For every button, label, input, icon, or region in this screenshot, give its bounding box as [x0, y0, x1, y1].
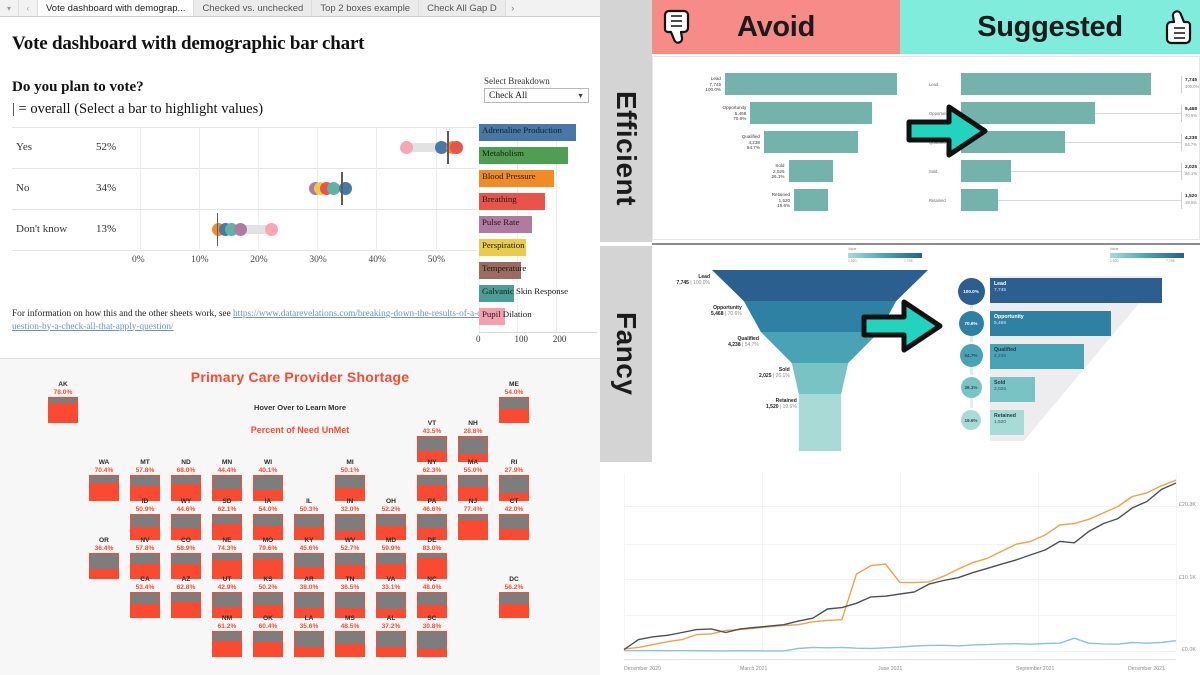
label-tick: [1181, 105, 1182, 122]
row-value: 52%: [96, 141, 116, 153]
state-abbr: AZ: [171, 576, 201, 584]
state-tile[interactable]: MT 57.8%: [130, 459, 160, 501]
state-abbr: DE: [417, 537, 447, 545]
state-value: 40.1%: [253, 467, 283, 475]
funnel-bar-label: Lead7,745100.0%: [673, 76, 721, 93]
state-abbr: WA: [89, 459, 119, 467]
stage-percent-circle[interactable]: 26.1%: [961, 377, 982, 398]
fancy-suggested-chart[interactable]: 100.0%Lead7,74570.6%Opportunity5,46854.7…: [938, 246, 1200, 462]
state-bar[interactable]: [335, 631, 365, 657]
state-value: 48.0%: [417, 584, 447, 592]
x-axis-tick: 20%: [250, 255, 267, 265]
grid-line: [376, 127, 377, 251]
state-tile[interactable]: IL 50.3%: [294, 498, 324, 540]
state-value: 74.3%: [212, 545, 242, 553]
thumbs-up-icon: [1158, 6, 1194, 46]
state-abbr: WY: [171, 498, 201, 506]
state-bar[interactable]: [89, 553, 119, 579]
breakdown-label: Select Breakdown: [484, 76, 550, 86]
color-legend-min: 1,520: [1110, 259, 1119, 263]
state-abbr: MN: [212, 459, 242, 467]
funnel-bar[interactable]: [764, 131, 858, 153]
state-value: 45.6%: [294, 545, 324, 553]
state-value: 37.2%: [376, 623, 406, 631]
state-abbr: SC: [417, 615, 447, 623]
funnel-bar[interactable]: [789, 160, 834, 182]
state-tile[interactable]: CA 53.4%: [130, 576, 160, 618]
caret-down-icon[interactable]: ▾: [0, 0, 19, 16]
state-abbr: OH: [376, 498, 406, 506]
state-abbr: VT: [417, 420, 447, 428]
state-tile[interactable]: ND 68.0%: [171, 459, 201, 501]
state-abbr: OK: [253, 615, 283, 623]
state-tile[interactable]: LA 35.6%: [294, 615, 324, 657]
state-tile[interactable]: WY 44.6%: [171, 498, 201, 540]
state-tile[interactable]: WV 52.7%: [335, 537, 365, 579]
state-tile[interactable]: IA 54.0%: [253, 498, 283, 540]
state-tile[interactable]: AR 38.0%: [294, 576, 324, 618]
state-tile[interactable]: OR 36.4%: [89, 537, 119, 579]
x-axis-tick: 10%: [191, 255, 208, 265]
color-legend-max: 7,745: [1166, 259, 1175, 263]
chevron-left-icon[interactable]: ‹: [19, 0, 38, 16]
map-metric-label: Percent of Need UnMet: [0, 425, 600, 435]
color-legend-title: Value: [1110, 247, 1118, 251]
state-tile[interactable]: VT 43.5%: [417, 420, 447, 462]
question-title: Do you plan to vote?: [12, 79, 144, 96]
state-abbr: NY: [417, 459, 447, 467]
funnel-segment-label: Sold2,025 | 26.1%: [736, 367, 790, 379]
state-abbr: WI: [253, 459, 283, 467]
right-arrow-icon: [858, 295, 946, 357]
state-value: 57.8%: [130, 467, 160, 475]
tab-label: Vote dashboard with demograp...: [46, 3, 185, 14]
grid-line: [12, 209, 477, 210]
vote-dot-plot[interactable]: 0%10%20%30%40%50%Yes52%No34%Don't know13…: [12, 127, 477, 277]
cumulative-line-chart[interactable]: £0.0K£10.1K£20.3KDecember 2020March 2021…: [600, 465, 1200, 675]
stage-name: Opportunity: [994, 314, 1024, 320]
leader-line: [1011, 171, 1181, 172]
suggested-label: Suggested: [977, 11, 1123, 44]
state-bar[interactable]: [499, 592, 529, 618]
stage-value: 2,025: [994, 387, 1006, 393]
state-tile[interactable]: OK 60.4%: [253, 615, 283, 657]
state-value: 62.3%: [417, 467, 447, 475]
state-value: 38.0%: [294, 584, 324, 592]
state-value: 68.0%: [171, 467, 201, 475]
state-bar-fill: [500, 409, 528, 422]
state-tile[interactable]: NY 62.3%: [417, 459, 447, 501]
state-abbr: MO: [253, 537, 283, 545]
funnel-bar-value: 4,238: [1185, 136, 1197, 142]
tab-top-2-boxes[interactable]: Top 2 boxes example: [312, 0, 419, 16]
state-tile[interactable]: SC 30.8%: [417, 615, 447, 657]
funnel-bar-category: Sold: [929, 169, 937, 174]
state-abbr: DC: [499, 576, 529, 584]
data-point-dot[interactable]: [400, 141, 413, 154]
state-tile[interactable]: WA 70.4%: [89, 459, 119, 501]
stage-percent-circle[interactable]: 100.0%: [958, 278, 985, 305]
state-value: 78.0%: [48, 389, 78, 397]
state-tile[interactable]: KY 45.6%: [294, 537, 324, 579]
state-abbr: AR: [294, 576, 324, 584]
funnel-bar-label: Retained1,52019.6%: [742, 192, 790, 209]
state-abbr: NC: [417, 576, 447, 584]
row-label[interactable]: Yes: [16, 141, 32, 153]
label-tick: [1181, 163, 1182, 180]
state-value: 79.6%: [253, 545, 283, 553]
breakdown-legend-bar-chart[interactable]: 0100200 Adrenaline Production Metabolism…: [479, 124, 597, 354]
state-tile[interactable]: AK 78.0%: [48, 381, 78, 423]
leader-line: [1065, 142, 1181, 143]
state-value: 50.2%: [253, 584, 283, 592]
funnel-bar-percent: 26.1%: [1185, 171, 1197, 176]
legend-item-label: Blood Pressure: [482, 171, 536, 181]
state-tile[interactable]: IN 32.0%: [335, 498, 365, 540]
state-tile[interactable]: SD 62.1%: [212, 498, 242, 540]
grid-line: [199, 127, 200, 251]
funnel-bar-percent: 100.0%: [1185, 84, 1199, 89]
state-tile[interactable]: OH 52.2%: [376, 498, 406, 540]
state-value: 61.2%: [212, 623, 242, 631]
thumbs-down-icon: [662, 8, 698, 46]
tab-label: Checked vs. unchecked: [202, 3, 303, 14]
data-point-dot[interactable]: [234, 223, 247, 236]
state-tile[interactable]: AL 37.2%: [376, 615, 406, 657]
funnel-segment-label: Qualified4,238 | 54.7%: [705, 336, 759, 348]
state-tile[interactable]: MN 44.4%: [212, 459, 242, 501]
state-value: 33.1%: [376, 584, 406, 592]
state-value: 36.5%: [335, 584, 365, 592]
color-legend-gradient: [1110, 253, 1184, 258]
stage-percent-circle[interactable]: 19.6%: [961, 410, 981, 430]
state-value: 55.0%: [458, 467, 488, 475]
state-abbr: AL: [376, 615, 406, 623]
funnel-bar-value: 1,520: [1185, 194, 1197, 200]
funnel-bar-category: Retained: [929, 198, 946, 203]
state-tile[interactable]: VA 33.1%: [376, 576, 406, 618]
state-tile[interactable]: CO 58.9%: [171, 537, 201, 579]
funnel-segment-label: Lead7,745 | 100.0%: [656, 274, 710, 286]
primary-care-shortage-panel: Primary Care Provider Shortage Hover Ove…: [0, 358, 600, 675]
row-divider: [652, 243, 1200, 245]
state-abbr: AK: [48, 381, 78, 389]
funnel-bar-percent: 54.7%: [1185, 142, 1197, 147]
state-bar[interactable]: [171, 592, 201, 618]
stage-percent-circle[interactable]: 54.7%: [960, 344, 983, 367]
x-axis-tick: 40%: [368, 255, 385, 265]
state-abbr: NM: [212, 615, 242, 623]
state-value: 57.8%: [130, 545, 160, 553]
row-value: 34%: [96, 182, 116, 194]
funnel-segment-label: Retained1,520 | 19.6%: [743, 398, 797, 410]
state-value: 62.1%: [212, 506, 242, 514]
state-bar[interactable]: [89, 475, 119, 501]
overall-reference-line: [447, 131, 449, 164]
state-bar-fill: [418, 649, 446, 656]
state-tile[interactable]: ID 50.9%: [130, 498, 160, 540]
tab-label: Top 2 boxes example: [320, 3, 410, 14]
grid-line: [12, 168, 477, 169]
stage-name: Lead: [994, 281, 1006, 287]
stage-value: 1,520: [994, 420, 1006, 426]
state-bar-fill: [418, 558, 446, 578]
state-abbr: NE: [212, 537, 242, 545]
chevron-right-icon[interactable]: ›: [506, 0, 520, 16]
state-value: 36.4%: [89, 545, 119, 553]
row-label-efficient: Efficient: [600, 54, 652, 242]
x-axis-tick: 30%: [309, 255, 326, 265]
leader-line: [1095, 113, 1181, 114]
legend-item-label: Breathing: [482, 194, 517, 204]
state-abbr: KS: [253, 576, 283, 584]
state-abbr: IA: [253, 498, 283, 506]
state-value: 52.7%: [335, 545, 365, 553]
state-value: 44.4%: [212, 467, 242, 475]
state-tile[interactable]: CT 42.0%: [499, 498, 529, 540]
state-value: 27.9%: [499, 467, 529, 475]
data-point-dot[interactable]: [265, 223, 278, 236]
state-abbr: MD: [376, 537, 406, 545]
state-bar[interactable]: [212, 631, 242, 657]
stage-name: Qualified: [994, 347, 1016, 353]
right-arrow-icon: [903, 100, 991, 162]
state-abbr: MA: [458, 459, 488, 467]
state-tile[interactable]: ME 54.0%: [499, 381, 529, 423]
state-value: 70.4%: [89, 467, 119, 475]
stage-percent-circle[interactable]: 70.6%: [959, 311, 984, 336]
legend-item-label: Pulse Rate: [482, 217, 519, 227]
tableau-dashboard-pane: ▾ ‹ Vote dashboard with demograp... Chec…: [0, 0, 600, 675]
state-value: 44.6%: [171, 506, 201, 514]
legend-item-label: Pupil Dilation: [482, 309, 532, 319]
state-value: 60.4%: [253, 623, 283, 631]
row-label[interactable]: No: [16, 182, 29, 194]
state-bar-fill: [500, 604, 528, 617]
state-bar[interactable]: [294, 631, 324, 657]
x-axis-tick: 100: [514, 334, 528, 344]
state-value: 50.1%: [335, 467, 365, 475]
state-tile[interactable]: AZ 62.8%: [171, 576, 201, 618]
state-bar[interactable]: [458, 514, 488, 540]
state-tile[interactable]: NM 61.2%: [212, 615, 242, 657]
tab-checked-vs-unchecked[interactable]: Checked vs. unchecked: [194, 0, 312, 16]
state-bar-fill: [213, 641, 241, 656]
state-abbr: VA: [376, 576, 406, 584]
state-tile[interactable]: MS 48.5%: [335, 615, 365, 657]
funnel-bar-label: Qualified4,23854.7%: [712, 134, 760, 151]
state-abbr: ME: [499, 381, 529, 389]
state-bar-fill: [254, 642, 282, 656]
state-value: 56.2%: [499, 584, 529, 592]
state-tile[interactable]: NE 74.3%: [212, 537, 242, 579]
avoid-label: Avoid: [737, 11, 815, 44]
stage-value: 4,238: [994, 354, 1006, 360]
state-bar-fill: [49, 403, 77, 422]
state-tile[interactable]: WI 40.1%: [253, 459, 283, 501]
funnel-bar-label: Sold2,02526.1%: [737, 163, 785, 180]
state-value: 62.8%: [171, 584, 201, 592]
funnel-bar-label: Opportunity5,46870.6%: [698, 105, 746, 122]
state-tile[interactable]: NC 48.0%: [417, 576, 447, 618]
stage-value: 5,468: [994, 321, 1006, 327]
state-value: 50.3%: [294, 506, 324, 514]
state-bar[interactable]: [499, 397, 529, 423]
funnel-bar[interactable]: [961, 160, 1011, 182]
tab-check-all-gap[interactable]: Check All Gap D: [419, 0, 506, 16]
state-tile[interactable]: NH 28.8%: [458, 420, 488, 462]
state-value: 35.6%: [294, 623, 324, 631]
funnel-bar[interactable]: [794, 189, 828, 211]
state-tile[interactable]: DC 56.2%: [499, 576, 529, 618]
state-tile[interactable]: MI 50.1%: [335, 459, 365, 501]
header-spacer: [600, 0, 652, 54]
legend-item-label: Metabolism: [482, 148, 524, 158]
funnel-bar[interactable]: [961, 73, 1151, 95]
funnel-bar-value: 2,025: [1185, 165, 1197, 171]
chevron-down-icon: ▼: [577, 92, 584, 100]
funnel-bar[interactable]: [725, 73, 897, 95]
state-bar[interactable]: [253, 631, 283, 657]
state-abbr: ND: [171, 459, 201, 467]
state-value: 46.6%: [417, 506, 447, 514]
x-axis-tick: 50%: [428, 255, 445, 265]
row-label-fancy-text: Fancy: [610, 312, 642, 395]
state-abbr: RI: [499, 459, 529, 467]
funnel-bar-category: Lead: [929, 82, 938, 87]
grid-line: [140, 127, 141, 251]
state-abbr: NJ: [458, 498, 488, 506]
state-abbr: CO: [171, 537, 201, 545]
state-value: 52.2%: [376, 506, 406, 514]
state-bar[interactable]: [376, 631, 406, 657]
state-abbr: PA: [417, 498, 447, 506]
color-legend-title: Value: [848, 247, 856, 251]
row-label-efficient-text: Efficient: [610, 91, 642, 206]
label-tick: [1181, 76, 1182, 93]
state-abbr: IN: [335, 498, 365, 506]
state-tile[interactable]: NJ 77.4%: [458, 498, 488, 540]
legend-item-label: Galvanic Skin Response: [482, 286, 568, 296]
state-abbr: NH: [458, 420, 488, 428]
footnote: For information on how this and the othe…: [12, 308, 482, 333]
state-abbr: CA: [130, 576, 160, 584]
state-abbr: CT: [499, 498, 529, 506]
row-label[interactable]: Don't know: [16, 223, 67, 235]
suggested-header: Suggested: [900, 0, 1200, 54]
grid-line: [12, 127, 477, 128]
color-legend-min: 1,520: [848, 259, 857, 263]
state-bar[interactable]: [48, 397, 78, 423]
color-legend-gradient: [848, 253, 922, 258]
state-tile[interactable]: PA 46.6%: [417, 498, 447, 540]
state-bar-fill: [295, 647, 323, 656]
state-abbr: MI: [335, 459, 365, 467]
state-tile[interactable]: RI 27.9%: [499, 459, 529, 501]
avoid-header: Avoid: [652, 0, 900, 54]
stage-name: Sold: [994, 380, 1005, 386]
avoid-centered-funnel-chart[interactable]: Lead7,745100.0% Opportunity5,46870.6% Qu…: [653, 57, 927, 241]
state-value: 28.8%: [458, 428, 488, 436]
tab-vote-dashboard[interactable]: Vote dashboard with demograp...: [38, 0, 194, 16]
state-value: 50.9%: [130, 506, 160, 514]
state-abbr: OR: [89, 537, 119, 545]
state-value: 54.0%: [253, 506, 283, 514]
state-tile[interactable]: KS 50.2%: [253, 576, 283, 618]
leader-line: [998, 200, 1181, 201]
state-tile[interactable]: MA 55.0%: [458, 459, 488, 501]
state-bar-fill: [377, 647, 405, 656]
page-title: Vote dashboard with demographic bar char…: [12, 33, 364, 55]
funnel-bar[interactable]: [750, 102, 871, 124]
stage-value: 7,745: [994, 288, 1006, 294]
data-point-dot[interactable]: [450, 141, 463, 154]
funnel-segment-label: Opportunity5,468 | 70.6%: [688, 305, 742, 317]
state-bar[interactable]: [130, 592, 160, 618]
state-value: 58.9%: [171, 545, 201, 553]
state-tile[interactable]: UT 42.9%: [212, 576, 242, 618]
state-value: 77.4%: [458, 506, 488, 514]
state-value: 53.4%: [130, 584, 160, 592]
color-legend-max: 7,745: [904, 259, 913, 263]
axis-line: [624, 659, 1176, 660]
tab-label: Check All Gap D: [427, 3, 497, 14]
state-bar-fill: [336, 644, 364, 656]
state-value: 59.9%: [376, 545, 406, 553]
state-value: 48.5%: [335, 623, 365, 631]
state-tile[interactable]: DE 83.0%: [417, 537, 447, 579]
breakdown-select[interactable]: Check All ▼: [484, 88, 589, 103]
worksheet-tab-bar[interactable]: ▾ ‹ Vote dashboard with demograp... Chec…: [0, 0, 600, 17]
state-value: 43.5%: [417, 428, 447, 436]
state-bar-fill: [172, 602, 200, 617]
state-abbr: MT: [130, 459, 160, 467]
state-tile[interactable]: TN 36.5%: [335, 576, 365, 618]
state-bar[interactable]: [499, 514, 529, 540]
state-tile[interactable]: MO 79.6%: [253, 537, 283, 579]
state-abbr: SD: [212, 498, 242, 506]
funnel-bar[interactable]: [961, 189, 998, 211]
state-bar[interactable]: [417, 631, 447, 657]
state-bar-fill: [90, 569, 118, 578]
state-tile[interactable]: NV 57.8%: [130, 537, 160, 579]
state-value: 42.0%: [499, 506, 529, 514]
footnote-text: For information on how this and the othe…: [12, 309, 233, 319]
state-bar-fill: [131, 604, 159, 617]
state-bar-fill: [90, 483, 118, 500]
row-value: 13%: [96, 223, 116, 235]
label-tick: [1181, 192, 1182, 209]
label-tick: [1181, 134, 1182, 151]
row-label-fancy: Fancy: [600, 246, 652, 462]
question-subtitle: | = overall (Select a bar to highlight v…: [12, 101, 263, 118]
state-abbr: UT: [212, 576, 242, 584]
state-abbr: KY: [294, 537, 324, 545]
funnel-comparison-pane: Avoid Suggested Efficient Lead7,745100.0…: [600, 0, 1200, 675]
state-tile[interactable]: MD 59.9%: [376, 537, 406, 579]
state-abbr: WV: [335, 537, 365, 545]
stage-bar[interactable]: [990, 278, 1162, 303]
axis-line: [479, 332, 597, 333]
state-bar-fill: [500, 529, 528, 539]
state-abbr: TN: [335, 576, 365, 584]
line-series-group[interactable]: [600, 465, 1200, 675]
legend-item-label: Perspiration: [482, 240, 525, 250]
state-abbr: IL: [294, 498, 324, 506]
overall-reference-line: [217, 213, 219, 246]
state-abbr: MS: [335, 615, 365, 623]
x-axis-tick: 0: [476, 334, 481, 344]
